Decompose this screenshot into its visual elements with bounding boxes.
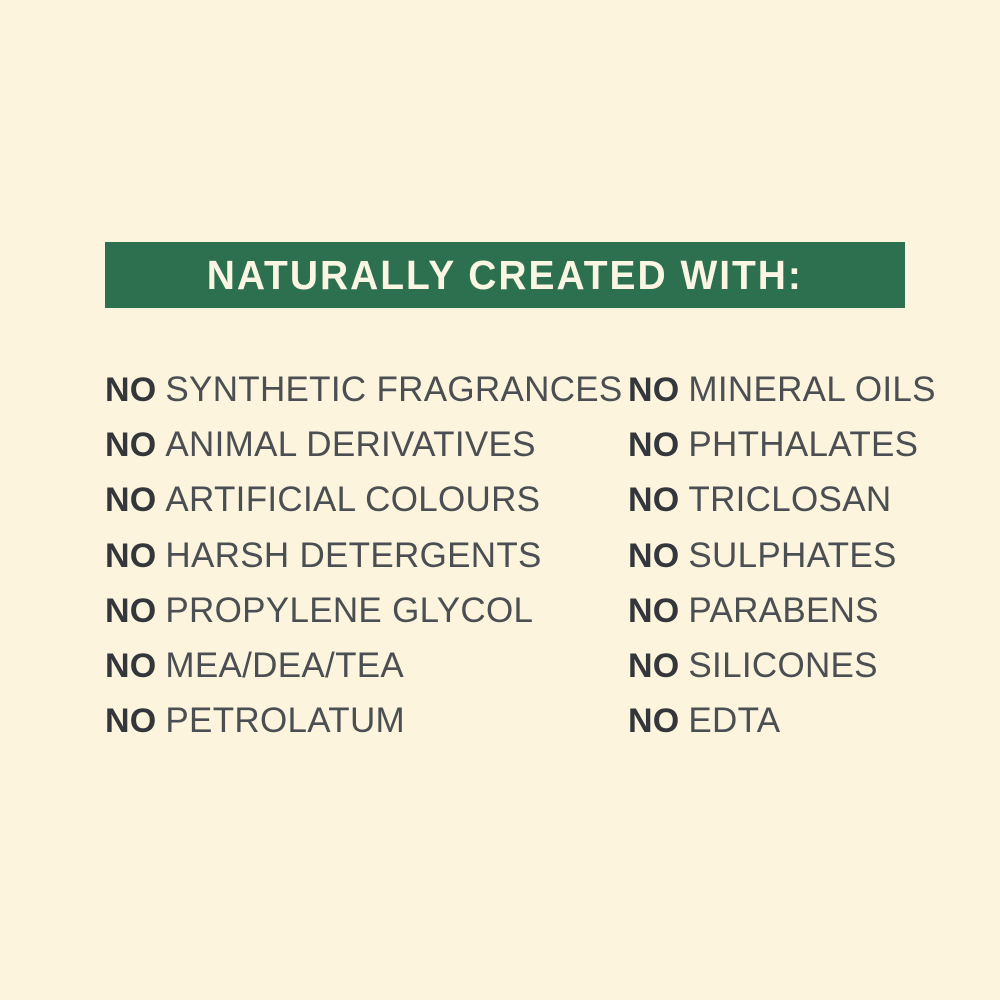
list-item: NOARTIFICIAL COLOURS xyxy=(105,482,605,537)
no-prefix-label: NO xyxy=(105,481,156,519)
list-item: NOTRICLOSAN xyxy=(628,482,918,537)
list-item-label: PARABENS xyxy=(688,591,878,630)
list-item-label: MINERAL OILS xyxy=(688,370,935,409)
no-prefix-label: NO xyxy=(628,371,679,409)
list-item: NOPROPYLENE GLYCOL xyxy=(105,593,605,648)
list-item-label: ARTIFICIAL COLOURS xyxy=(165,480,540,519)
list-item-label: PROPYLENE GLYCOL xyxy=(165,591,533,630)
list-item: NOMINERAL OILS xyxy=(628,372,918,427)
list-item-label: PETROLATUM xyxy=(165,701,405,740)
banner: NATURALLY CREATED WITH: xyxy=(105,242,905,308)
list-item-label: TRICLOSAN xyxy=(688,480,891,519)
no-prefix-label: NO xyxy=(105,537,156,575)
no-prefix-label: NO xyxy=(628,702,679,740)
ingredient-exclusion-list: NOSYNTHETIC FRAGRANCES NOANIMAL DERIVATI… xyxy=(105,372,915,772)
list-item: NOEDTA xyxy=(628,703,918,758)
no-prefix-label: NO xyxy=(628,592,679,630)
list-column-left: NOSYNTHETIC FRAGRANCES NOANIMAL DERIVATI… xyxy=(105,372,605,758)
list-item-label: SYNTHETIC FRAGRANCES xyxy=(165,370,622,409)
no-prefix-label: NO xyxy=(105,647,156,685)
list-item: NOSYNTHETIC FRAGRANCES xyxy=(105,372,605,427)
list-item-label: MEA/DEA/TEA xyxy=(165,646,404,685)
list-item-label: EDTA xyxy=(688,701,780,740)
list-item: NOSILICONES xyxy=(628,648,918,703)
list-item-label: SULPHATES xyxy=(688,536,896,575)
list-item: NOANIMAL DERIVATIVES xyxy=(105,427,605,482)
poster-canvas: NATURALLY CREATED WITH: NOSYNTHETIC FRAG… xyxy=(0,0,1000,1000)
no-prefix-label: NO xyxy=(105,592,156,630)
no-prefix-label: NO xyxy=(105,426,156,464)
list-item: NOSULPHATES xyxy=(628,538,918,593)
list-item: NOHARSH DETERGENTS xyxy=(105,538,605,593)
list-column-right: NOMINERAL OILS NOPHTHALATES NOTRICLOSAN … xyxy=(628,372,918,758)
no-prefix-label: NO xyxy=(628,647,679,685)
no-prefix-label: NO xyxy=(628,426,679,464)
banner-title: NATURALLY CREATED WITH: xyxy=(207,255,803,296)
no-prefix-label: NO xyxy=(105,371,156,409)
no-prefix-label: NO xyxy=(628,537,679,575)
list-item-label: ANIMAL DERIVATIVES xyxy=(165,425,535,464)
no-prefix-label: NO xyxy=(105,702,156,740)
list-item: NOPETROLATUM xyxy=(105,703,605,758)
no-prefix-label: NO xyxy=(628,481,679,519)
list-item-label: SILICONES xyxy=(688,646,877,685)
list-item: NOPARABENS xyxy=(628,593,918,648)
list-item: NOPHTHALATES xyxy=(628,427,918,482)
list-item-label: PHTHALATES xyxy=(688,425,918,464)
list-item: NOMEA/DEA/TEA xyxy=(105,648,605,703)
list-item-label: HARSH DETERGENTS xyxy=(165,536,541,575)
